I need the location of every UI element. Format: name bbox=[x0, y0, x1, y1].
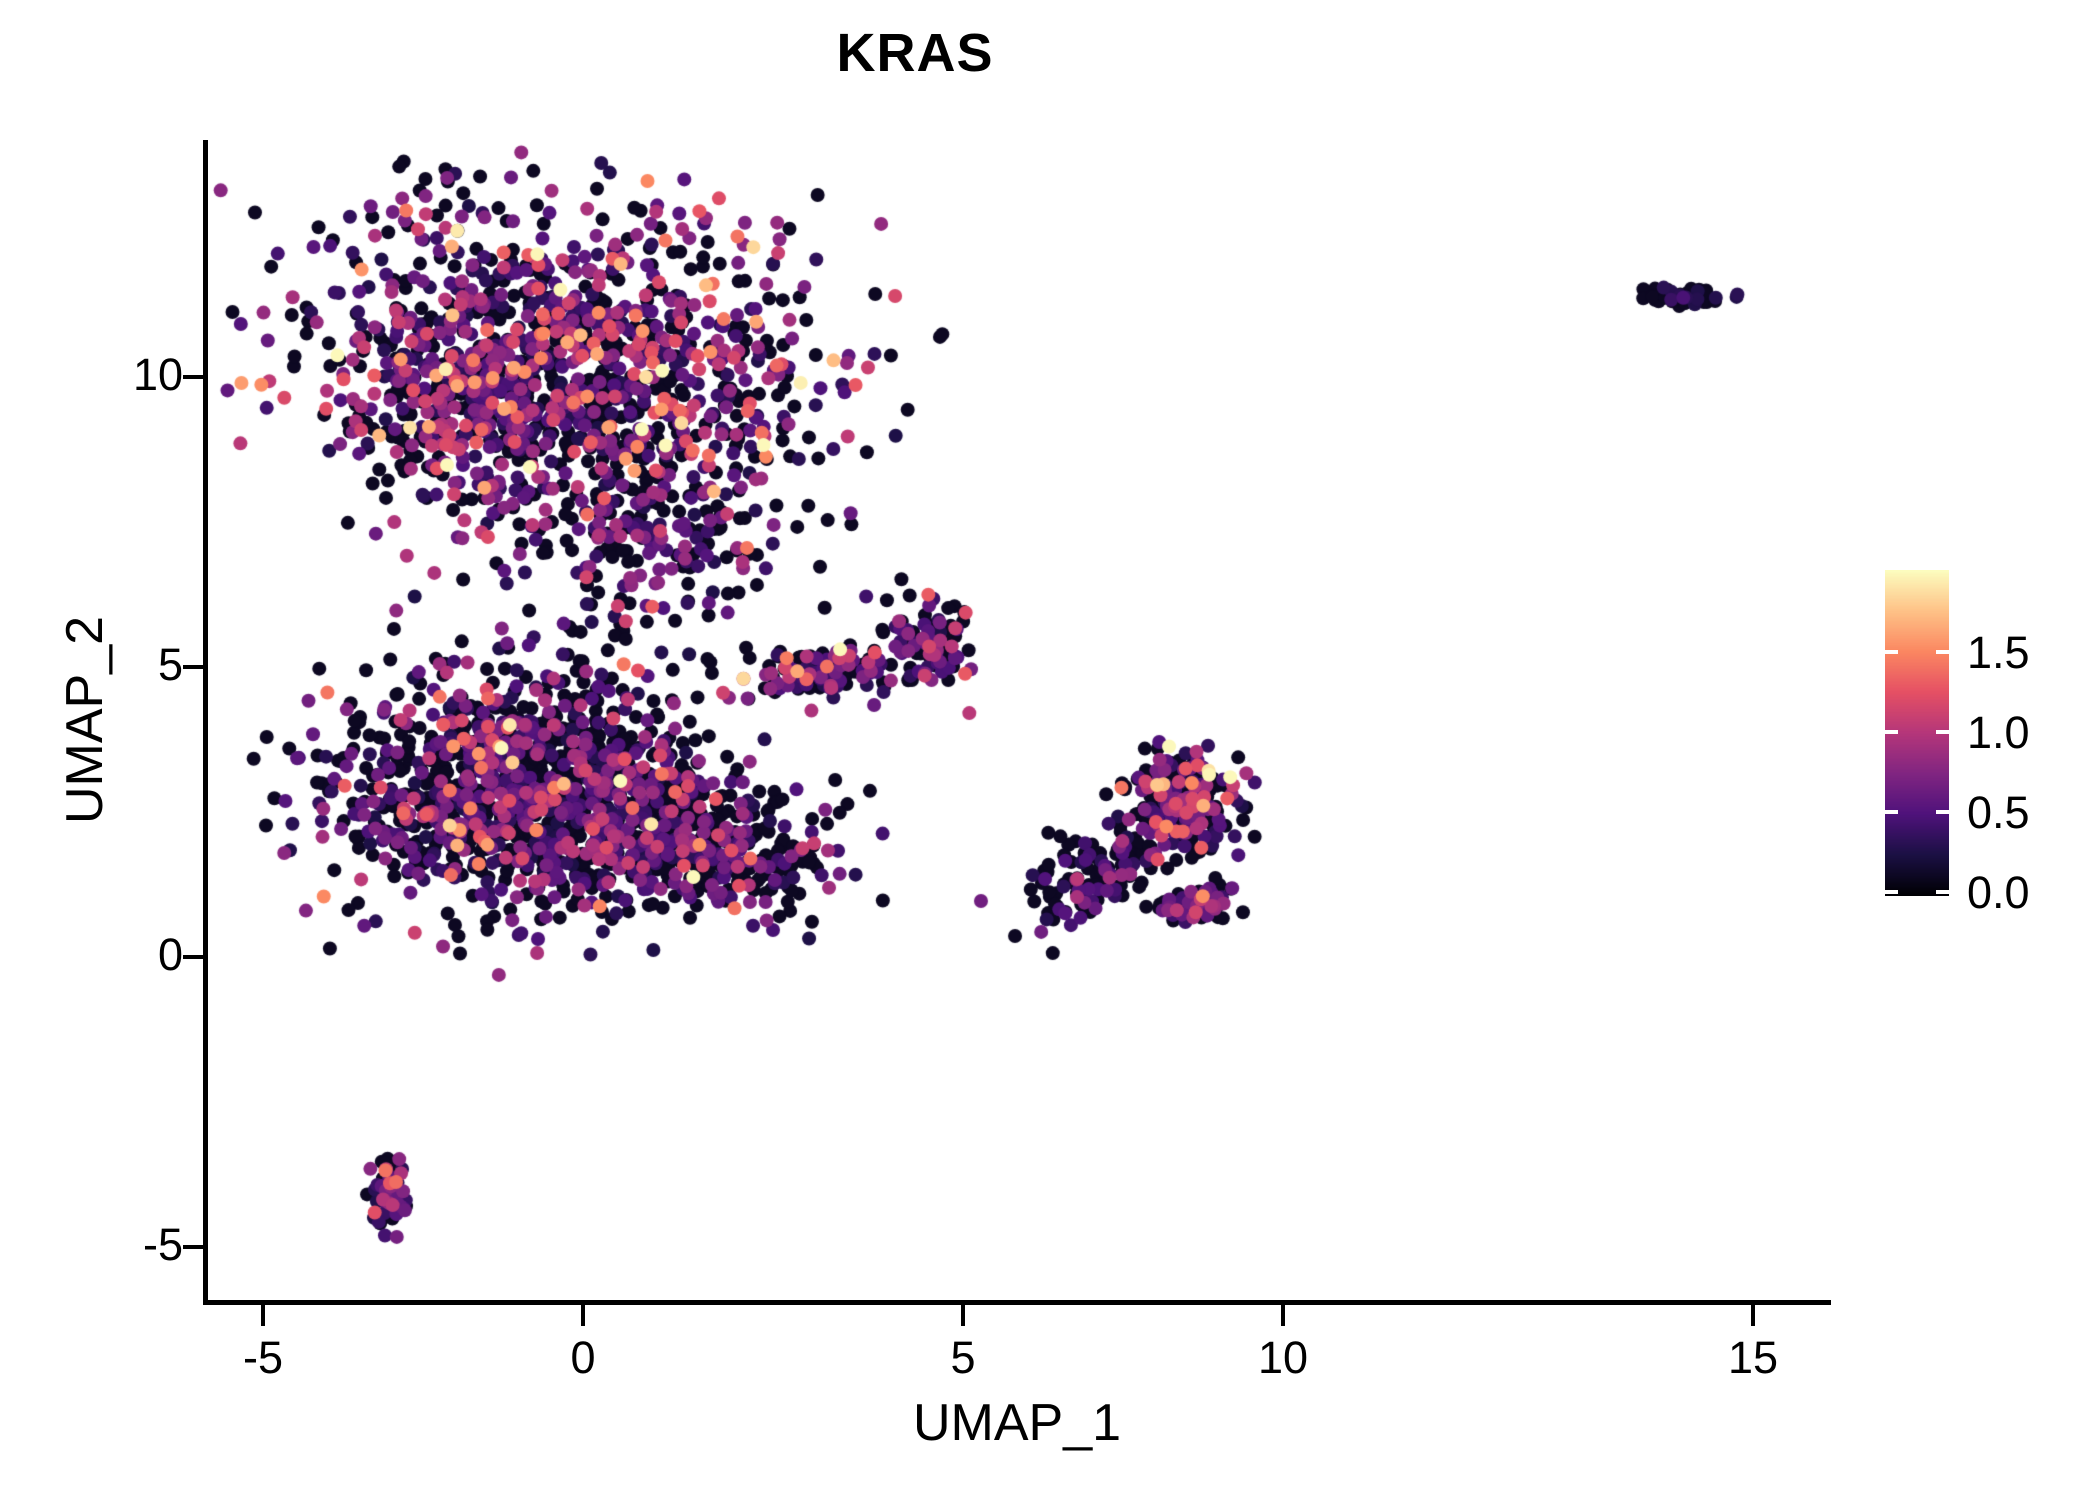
page-title: KRAS bbox=[0, 22, 1830, 84]
y-tick-0 bbox=[183, 955, 203, 959]
x-tick-label-10: 10 bbox=[1183, 1335, 1383, 1380]
x-tick-label-minus5: -5 bbox=[163, 1335, 363, 1380]
colorbar-legend: 1.5 1.0 0.5 0.0 bbox=[1885, 570, 1949, 896]
x-tick-5 bbox=[961, 1305, 965, 1326]
colorbar-tick-0-0-left bbox=[1885, 890, 1898, 894]
colorbar-tick-0-5-right bbox=[1936, 810, 1949, 814]
colorbar-label-1-5: 1.5 bbox=[1967, 630, 2100, 675]
x-axis-title: UMAP_1 bbox=[203, 1393, 1831, 1453]
x-tick-10 bbox=[1281, 1305, 1285, 1326]
colorbar-tick-0-5-left bbox=[1885, 810, 1898, 814]
y-tick-10 bbox=[183, 375, 203, 379]
y-axis-title: UMAP_2 bbox=[55, 420, 115, 1020]
colorbar-tick-1-5-right bbox=[1936, 650, 1949, 654]
x-tick-label-5: 5 bbox=[863, 1335, 1063, 1380]
y-tick-label-minus5: -5 bbox=[0, 1222, 183, 1267]
colorbar-tick-1-0-right bbox=[1936, 730, 1949, 734]
y-axis-line bbox=[203, 140, 208, 1305]
colorbar-label-1-0: 1.0 bbox=[1967, 710, 2100, 755]
x-tick-label-15: 15 bbox=[1653, 1335, 1853, 1380]
y-tick-minus5 bbox=[183, 1245, 203, 1249]
colorbar-label-0-0: 0.0 bbox=[1967, 870, 2100, 915]
colorbar-label-0-5: 0.5 bbox=[1967, 790, 2100, 835]
colorbar-tick-1-5-left bbox=[1885, 650, 1898, 654]
x-tick-15 bbox=[1751, 1305, 1755, 1326]
plot-panel bbox=[207, 140, 1830, 1302]
y-tick-5 bbox=[183, 665, 203, 669]
scatter-plot-canvas bbox=[207, 140, 1830, 1302]
colorbar-tick-1-0-left bbox=[1885, 730, 1898, 734]
x-tick-label-0: 0 bbox=[483, 1335, 683, 1380]
x-axis-line bbox=[203, 1300, 1831, 1305]
x-tick-0 bbox=[581, 1305, 585, 1326]
colorbar-tick-0-0-right bbox=[1936, 890, 1949, 894]
y-tick-label-10: 10 bbox=[0, 352, 183, 397]
chart-page: KRAS 10 5 0 -5 -5 0 5 10 15 UMAP_1 UMAP_… bbox=[0, 0, 2100, 1500]
x-tick-minus5 bbox=[261, 1305, 265, 1326]
